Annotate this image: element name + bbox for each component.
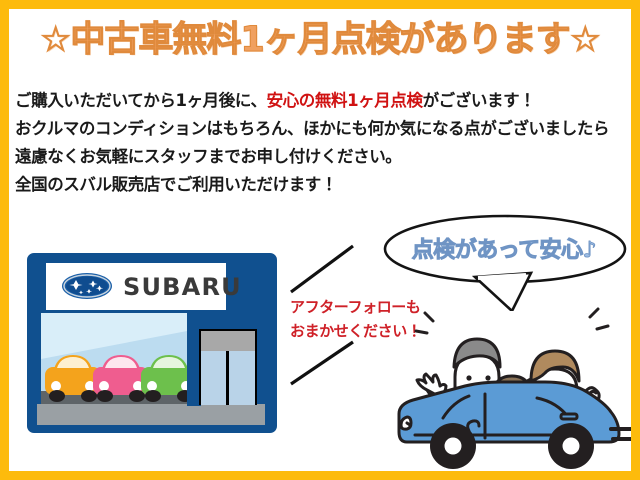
- body-copy: ご購入いただいてから1ヶ月後に、安心の無料1ヶ月点検がございます！ おクルマのコ…: [15, 87, 621, 199]
- subaru-logo-icon: [62, 273, 112, 299]
- body-line-1-post: がございます！: [423, 91, 536, 110]
- body-line-1-emphasis: 安心の無料1ヶ月点検: [267, 91, 423, 110]
- title-bar: ☆中古車無料1ヶ月点検があります☆: [9, 22, 631, 59]
- speech-bubble: 点検があって安心♪: [379, 211, 640, 311]
- bracket-line-top: [291, 246, 353, 292]
- spark-left: [416, 313, 433, 333]
- speech-bubble-text: 点検があって安心♪: [379, 232, 629, 264]
- family-in-blue-car-illustration: [385, 305, 640, 475]
- body-line-3: 遠慮なくお気軽にスタッフまでお申し付けください。: [15, 143, 621, 171]
- spark-right: [590, 309, 608, 329]
- subaru-wordmark: SUBARU: [123, 273, 242, 301]
- bracket-line-bottom: [291, 342, 353, 384]
- body-line-1: ご購入いただいてから1ヶ月後に、安心の無料1ヶ月点検がございます！: [15, 87, 621, 115]
- poster-root: ☆中古車無料1ヶ月点検があります☆ ご購入いただいてから1ヶ月後に、安心の無料1…: [0, 0, 640, 480]
- body-line-2: おクルマのコンディションはもちろん、ほかにも何か気になる点がございましたら: [15, 115, 621, 143]
- subaru-dealership-illustration: SUBARU: [23, 249, 281, 444]
- body-line-1-pre: ご購入いただいてから1ヶ月後に、: [15, 91, 267, 110]
- body-line-4: 全国のスバル販売店でご利用いただけます！: [15, 171, 621, 199]
- blue-car: [399, 382, 619, 469]
- page-title: ☆中古車無料1ヶ月点検があります☆: [40, 22, 600, 59]
